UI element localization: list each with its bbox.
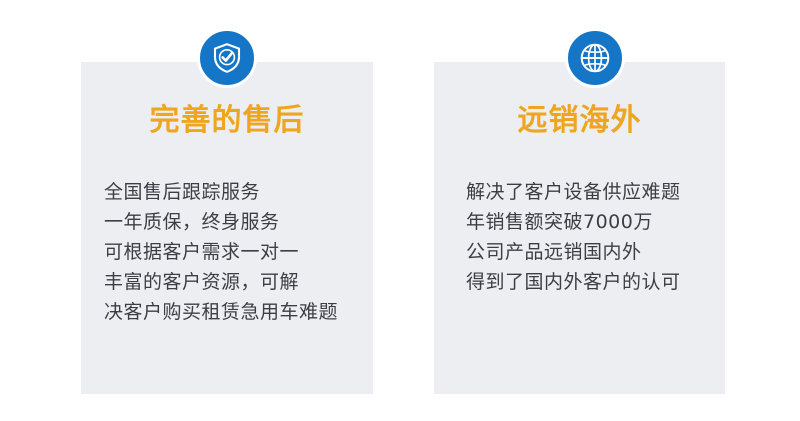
feature-cards-section: 完善的售后 全国售后跟踪服务 一年质保，终身服务 可根据客户需求一对一 丰富的客… xyxy=(0,0,800,421)
body-line: 得到了国内外客户的认可 xyxy=(466,267,681,297)
body-line: 全国售后跟踪服务 xyxy=(104,177,338,207)
globe-icon xyxy=(565,28,625,88)
body-line: 决客户购买租赁急用车难题 xyxy=(104,297,338,327)
body-line: 年销售额突破7000万 xyxy=(466,207,681,237)
card-body-overseas-sales: 解决了客户设备供应难题 年销售额突破7000万 公司产品远销国内外 得到了国内外… xyxy=(466,177,681,297)
card-title-overseas-sales: 远销海外 xyxy=(434,100,725,142)
body-line: 一年质保，终身服务 xyxy=(104,207,338,237)
shield-check-icon xyxy=(197,28,257,88)
body-line: 公司产品远销国内外 xyxy=(466,237,681,267)
body-line: 丰富的客户资源，可解 xyxy=(104,267,338,297)
card-title-after-sales: 完善的售后 xyxy=(81,100,373,142)
body-line: 可根据客户需求一对一 xyxy=(104,237,338,267)
card-body-after-sales: 全国售后跟踪服务 一年质保，终身服务 可根据客户需求一对一 丰富的客户资源，可解… xyxy=(104,177,338,327)
body-line: 解决了客户设备供应难题 xyxy=(466,177,681,207)
